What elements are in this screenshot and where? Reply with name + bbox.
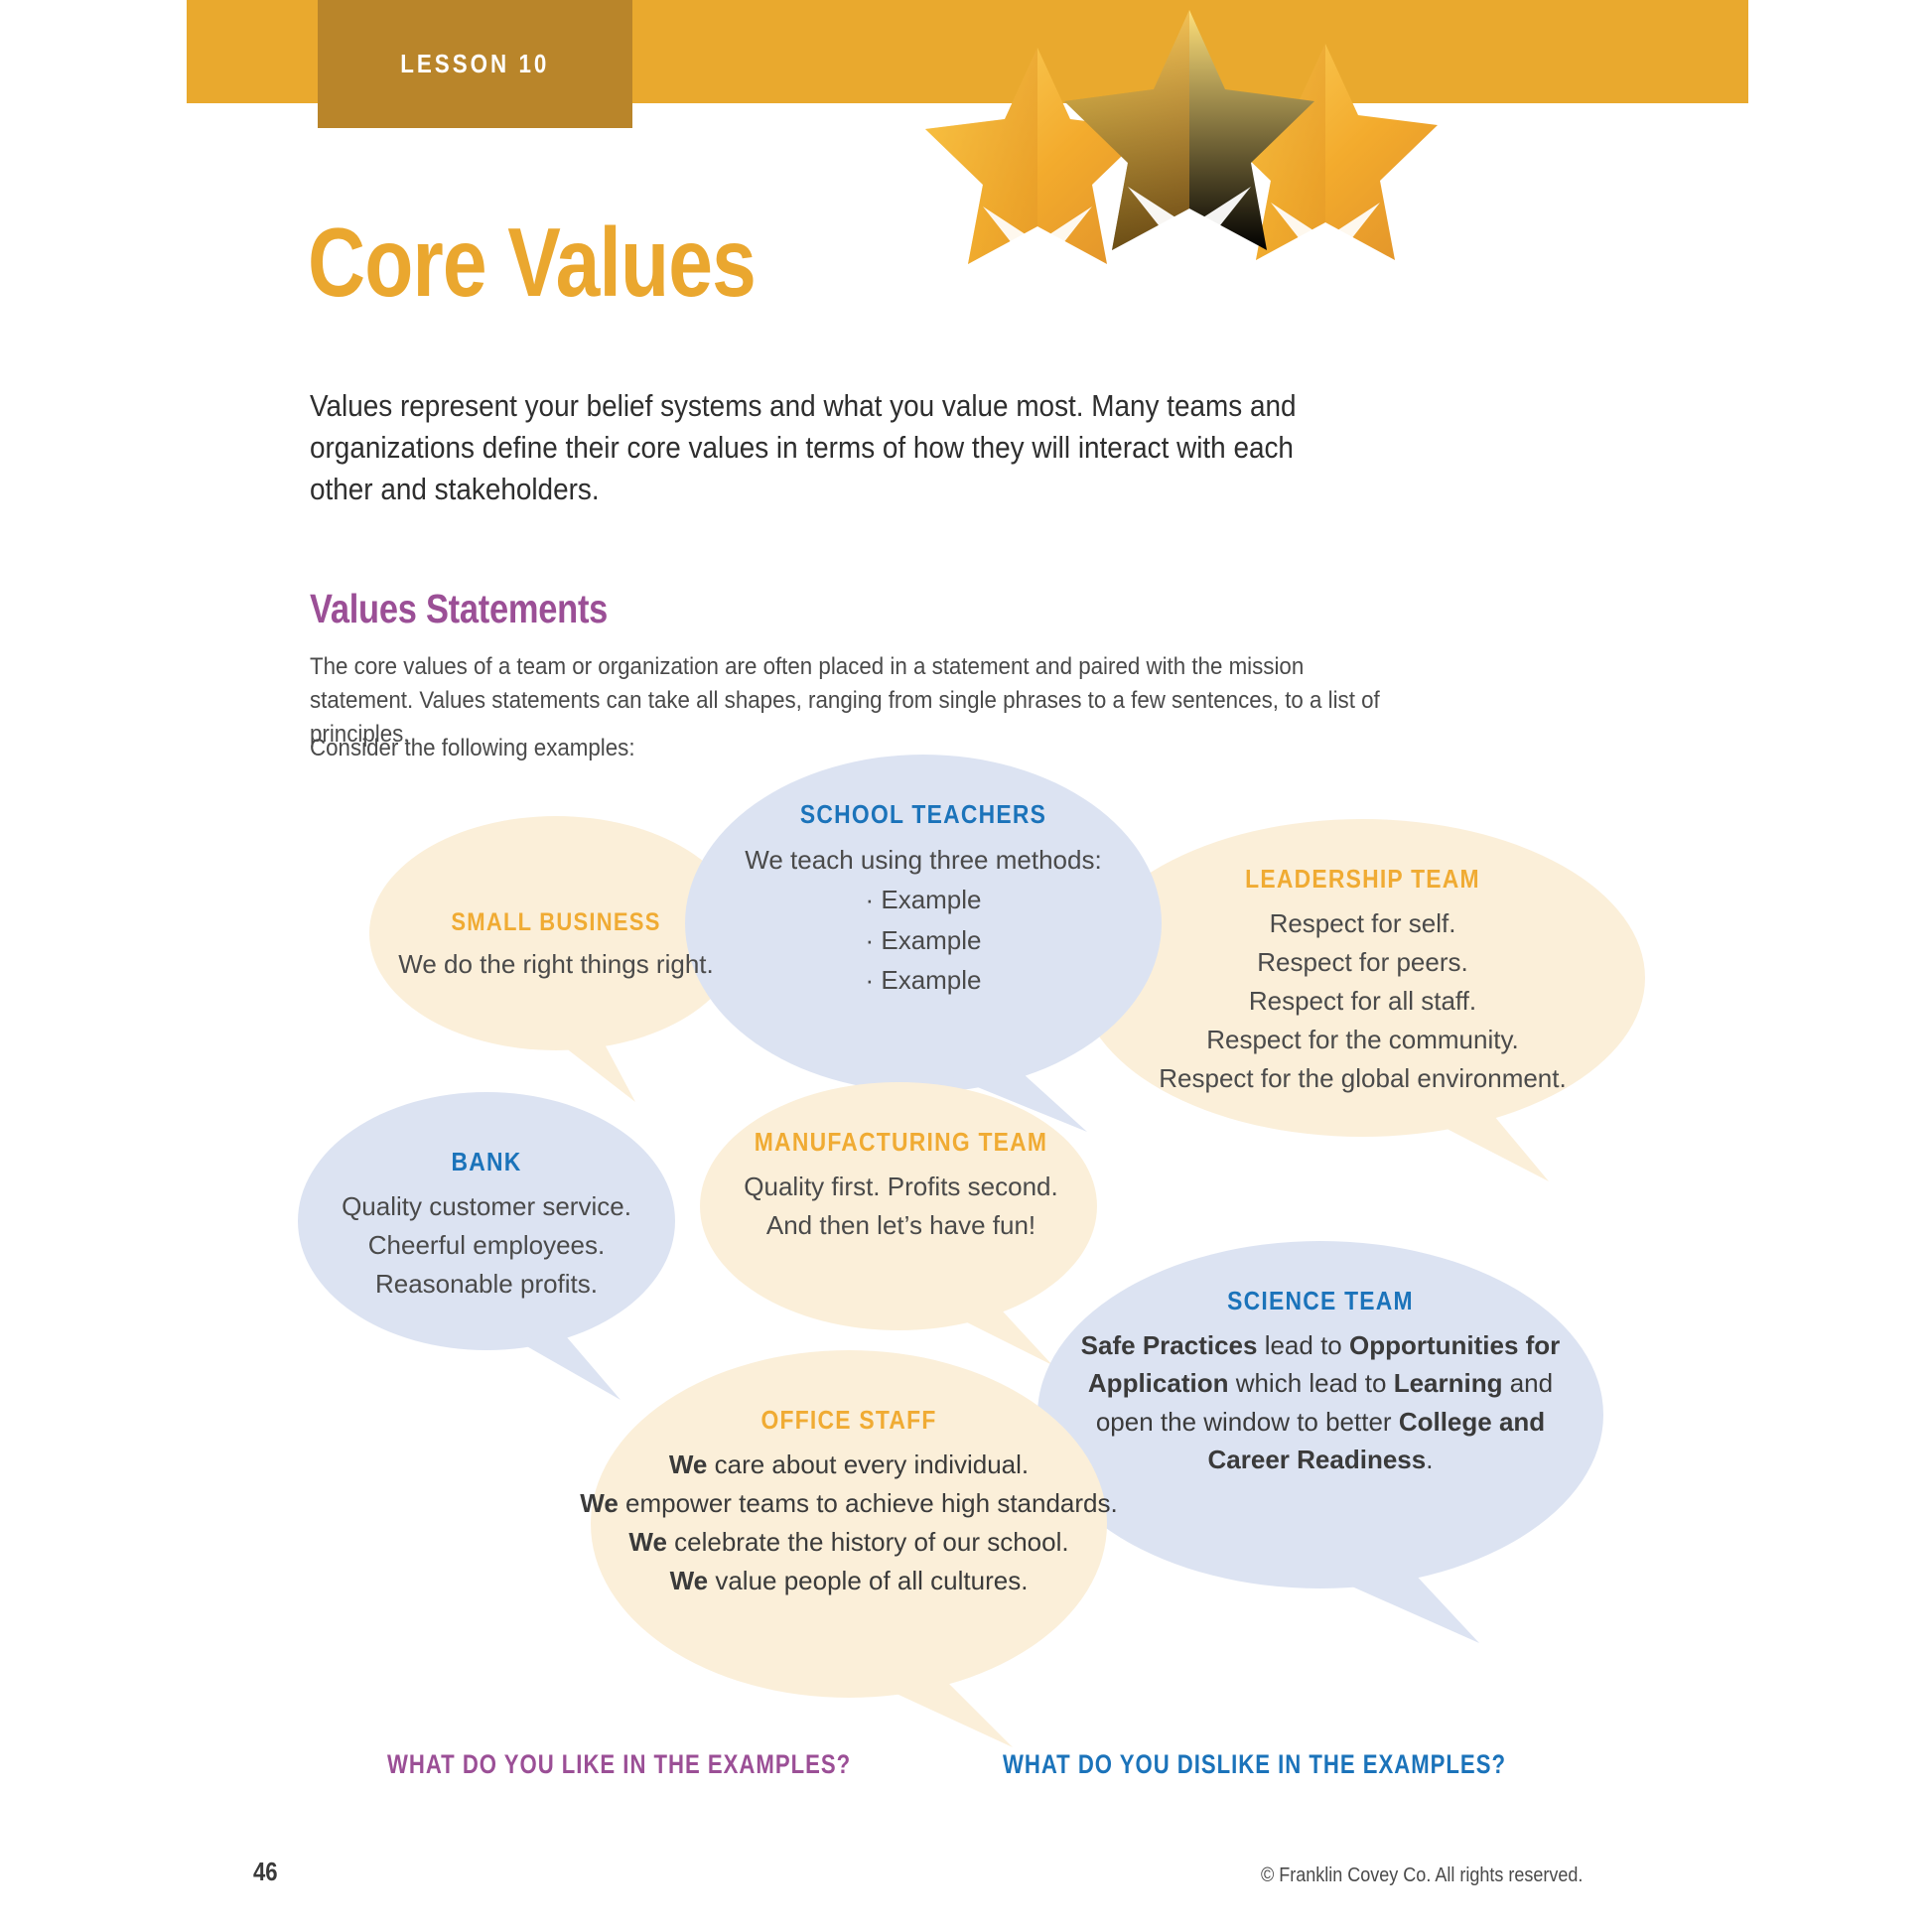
bubble-science-team: SCIENCE TEAM Safe Practices lead to Oppo… (1077, 1286, 1564, 1479)
bubble-line: Cheerful employees. (318, 1226, 655, 1265)
bubble-line: · Example (705, 880, 1142, 919)
intro-paragraph: Values represent your belief systems and… (310, 385, 1351, 510)
bubble-title-science-team: SCIENCE TEAM (1106, 1286, 1534, 1316)
bubble-body-bank: Quality customer service. Cheerful emplo… (318, 1187, 655, 1304)
bubble-leadership-team: LEADERSHIP TEAM Respect for self. Respec… (1092, 864, 1633, 1098)
bubble-title-manufacturing-team: MANUFACTURING TEAM (720, 1127, 1082, 1158)
bubble-manufacturing-team: MANUFACTURING TEAM Quality first. Profit… (695, 1127, 1107, 1245)
bubble-title-leadership-team: LEADERSHIP TEAM (1125, 864, 1601, 895)
bubble-school-teachers: SCHOOL TEACHERS We teach using three met… (705, 799, 1142, 1000)
bubble-bank: BANK Quality customer service. Cheerful … (318, 1147, 655, 1304)
bubble-line: Respect for peers. (1092, 943, 1633, 982)
lesson-label: LESSON 10 (400, 49, 549, 79)
bubble-line: · Example (705, 920, 1142, 960)
page-number: 46 (253, 1857, 278, 1887)
bubble-title-bank: BANK (338, 1147, 634, 1177)
bubble-title-office-staff: OFFICE STAFF (600, 1405, 1098, 1436)
bubble-line: Reasonable profits. (318, 1265, 655, 1304)
bubble-line: Respect for self. (1092, 904, 1633, 943)
bubble-body-science-team: Safe Practices lead to Opportunities for… (1077, 1326, 1564, 1479)
lesson-tab: LESSON 10 (318, 0, 632, 128)
bubble-line: We teach using three methods: (705, 840, 1142, 880)
bubble-body-small-business: We do the right things right. (392, 947, 720, 983)
bubble-line: · Example (705, 960, 1142, 1000)
copyright-notice: © Franklin Covey Co. All rights reserved… (1261, 1864, 1583, 1887)
bubble-body-office-staff: We care about every individual.We empowe… (566, 1446, 1132, 1600)
bubble-office-staff: OFFICE STAFF We care about every individ… (566, 1405, 1132, 1600)
bubble-line: Quality customer service. (318, 1187, 655, 1226)
values-statements-heading: Values Statements (310, 586, 608, 632)
bubble-line: Respect for the global environment. (1092, 1059, 1633, 1098)
question-like: WHAT DO YOU LIKE IN THE EXAMPLES? (387, 1749, 851, 1780)
bubble-title-small-business: SMALL BUSINESS (412, 908, 700, 937)
bubble-title-school-teachers: SCHOOL TEACHERS (731, 799, 1115, 830)
bubble-line: Respect for all staff. (1092, 982, 1633, 1021)
bubble-line: Quality first. Profits second. (695, 1168, 1107, 1206)
bubble-line: Respect for the community. (1092, 1021, 1633, 1059)
consider-examples-line: Consider the following examples: (310, 735, 635, 762)
bubble-body-leadership-team: Respect for self. Respect for peers. Res… (1092, 904, 1633, 1098)
page-title: Core Values (308, 213, 756, 311)
bubble-small-business: SMALL BUSINESS We do the right things ri… (392, 908, 720, 983)
bubble-body-manufacturing-team: Quality first. Profits second. And then … (695, 1168, 1107, 1245)
three-stars-decoration (923, 10, 1579, 298)
bubble-body-school-teachers: We teach using three methods: · Example … (705, 840, 1142, 1000)
bubble-line: And then let’s have fun! (695, 1206, 1107, 1245)
question-dislike: WHAT DO YOU DISLIKE IN THE EXAMPLES? (1003, 1749, 1506, 1780)
